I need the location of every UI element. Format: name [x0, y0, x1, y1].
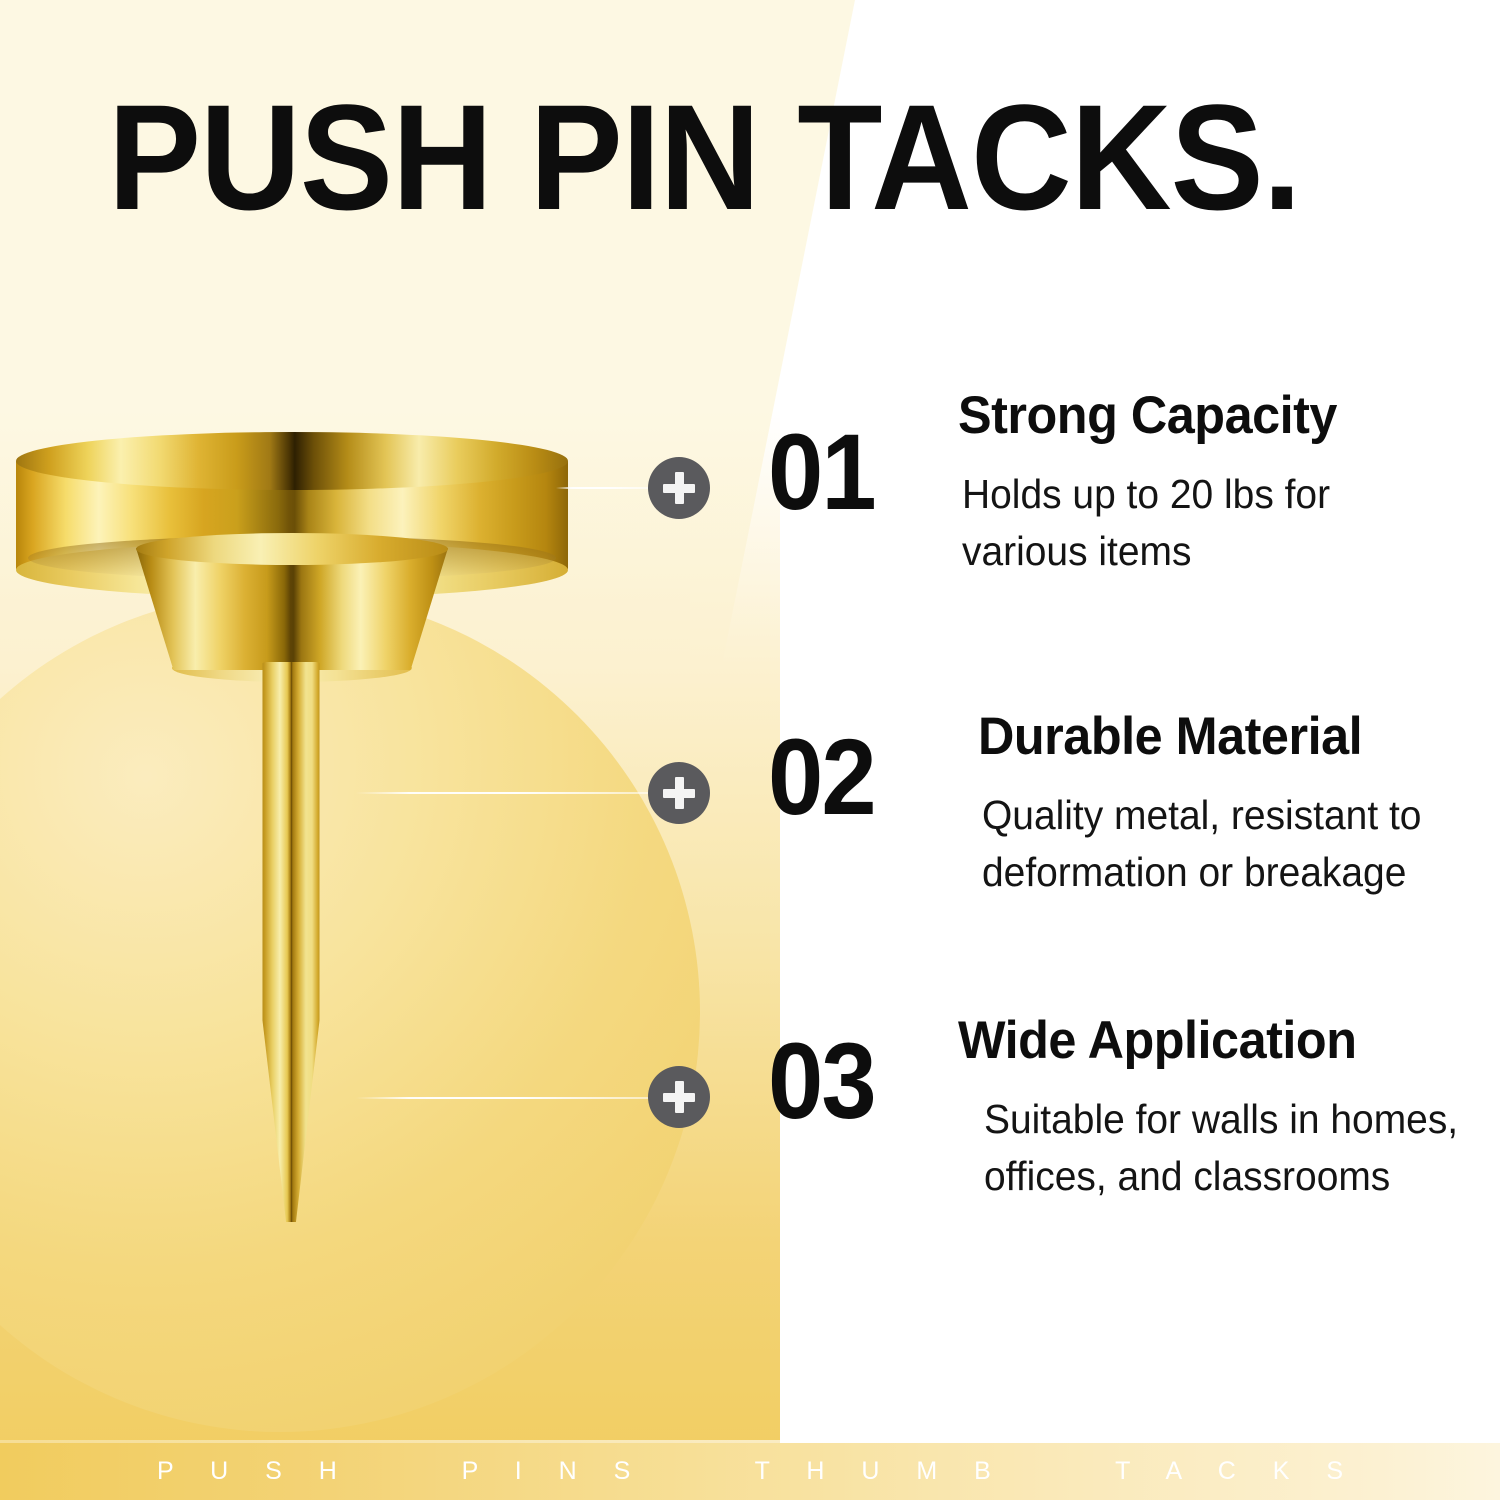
- plus-icon: [648, 457, 710, 519]
- feature-title-02: Durable Material: [978, 709, 1362, 765]
- feature-title-01: Strong Capacity: [958, 388, 1337, 444]
- product-infographic: PUSH PIN TACKS. 01 Strong Capacity Holds…: [0, 0, 1500, 1500]
- push-pin-illustration: [0, 430, 600, 1250]
- connector-line-01: [556, 487, 648, 489]
- feature-description-02: Quality metal, resistant to deformation …: [982, 787, 1453, 900]
- connector-line-02: [356, 792, 648, 794]
- pin-needle: [260, 662, 322, 1222]
- feature-title-03: Wide Application: [958, 1013, 1356, 1069]
- footer-tagline: P U S H P I N S T H U M B T A C K S: [0, 1443, 1500, 1500]
- feature-number-03: 03: [768, 1027, 875, 1135]
- connector-line-03: [356, 1097, 648, 1099]
- pin-collar-top-rim: [136, 533, 448, 565]
- feature-number-02: 02: [768, 723, 875, 831]
- plus-icon: [648, 762, 710, 824]
- pin-head-top-face: [16, 432, 568, 490]
- feature-description-03: Suitable for walls in homes, offices, an…: [984, 1091, 1459, 1204]
- page-title: PUSH PIN TACKS.: [108, 82, 1301, 232]
- plus-icon: [648, 1066, 710, 1128]
- pin-collar: [136, 548, 448, 670]
- feature-description-01: Holds up to 20 lbs for various items: [962, 466, 1418, 579]
- feature-number-01: 01: [768, 418, 875, 526]
